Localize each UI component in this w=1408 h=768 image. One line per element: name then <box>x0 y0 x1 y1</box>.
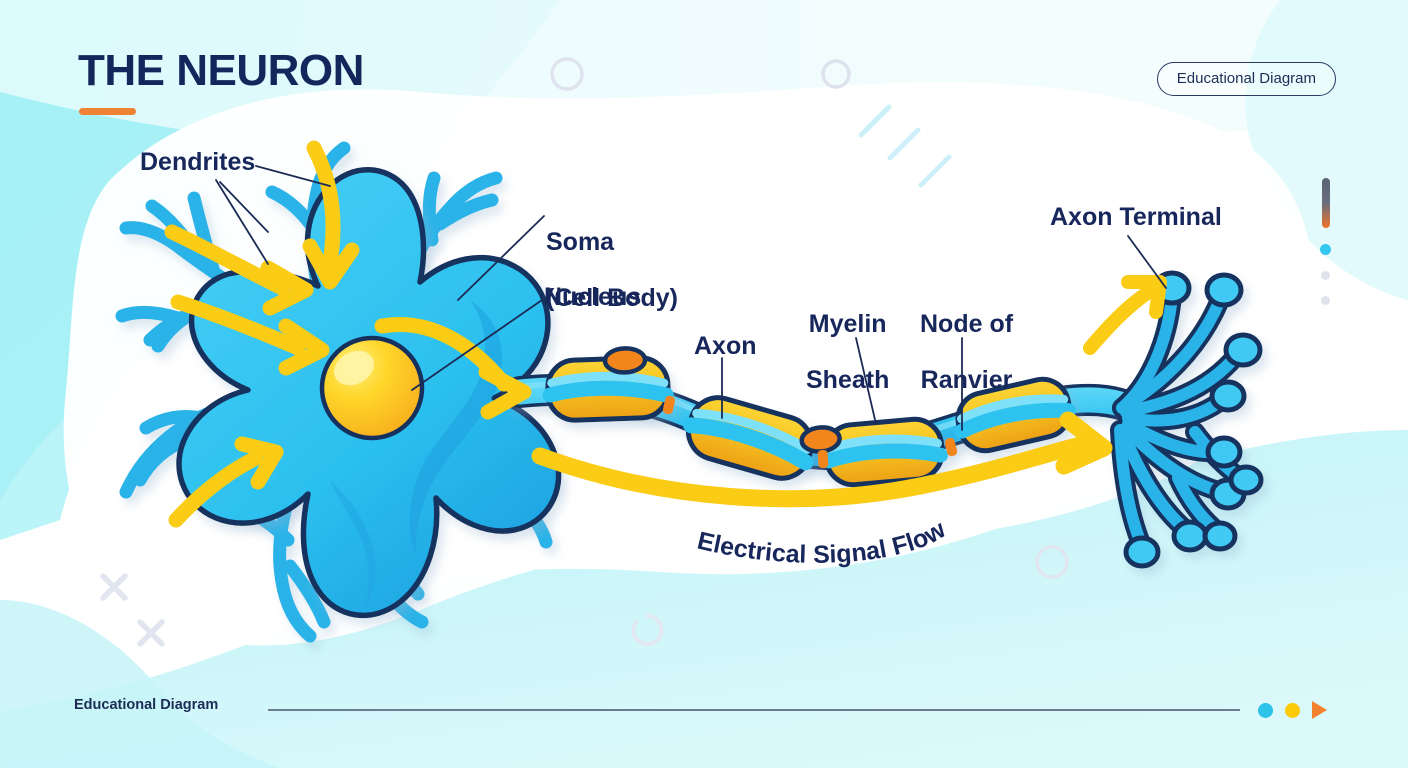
neuron-illustration: Electrical Signal Flow <box>0 0 1408 768</box>
node-bump <box>801 426 841 453</box>
node-of-ranvier <box>817 450 828 469</box>
nucleus <box>322 338 422 438</box>
diagram-canvas: Electrical Signal Flow THE NEURON Educat… <box>0 0 1408 768</box>
node-bump <box>605 348 646 373</box>
leader-myelin <box>856 338 876 424</box>
flow-label: Electrical Signal Flow <box>695 515 951 569</box>
axon-terminals <box>1120 273 1261 566</box>
